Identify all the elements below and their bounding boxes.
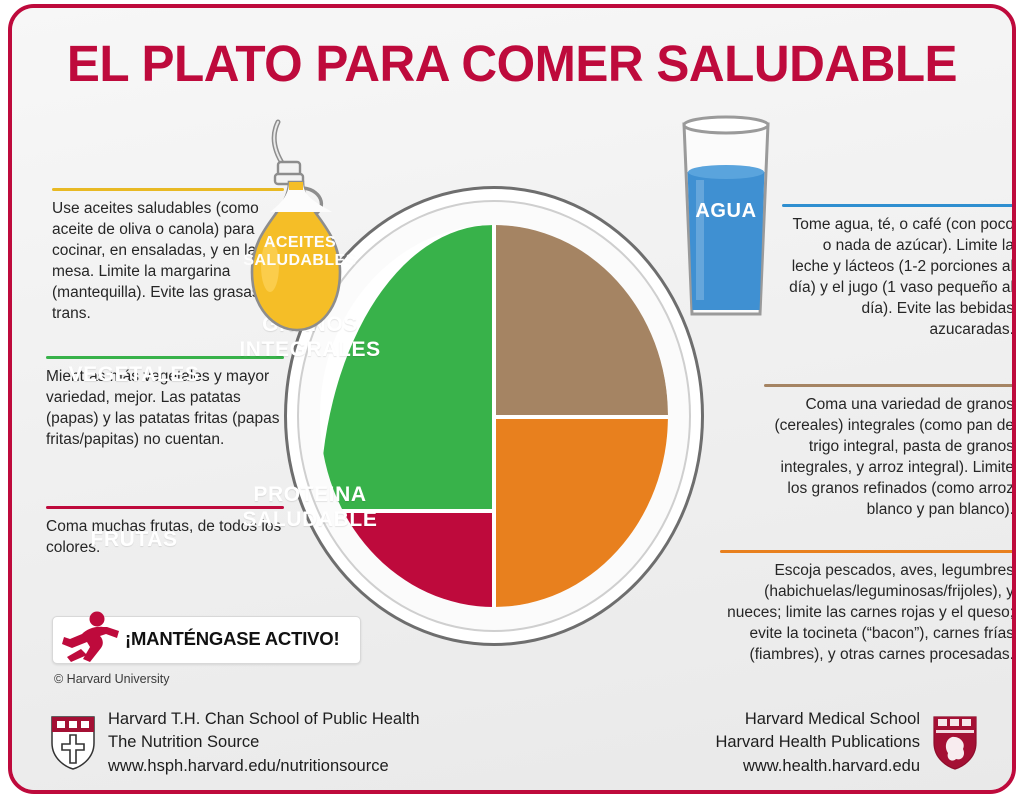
oil-bottle-label-line2: SALUDABLES (240, 252, 360, 270)
callout-whole-grains: Coma una variedad de granos (cereales) i… (764, 384, 1014, 520)
footer-right: Harvard Medical School Harvard Health Pu… (715, 708, 978, 778)
footer-left-line1: Harvard T.H. Chan School of Public Healt… (108, 708, 420, 731)
plate-label-grains-line2: INTEGRALES (224, 338, 396, 363)
connector-line-grains (764, 384, 1014, 387)
plate-label-fruits: FRUTAS (48, 528, 220, 553)
footer-left-line2: The Nutrition Source (108, 731, 420, 754)
footer-left-lines: Harvard T.H. Chan School of Public Healt… (108, 708, 420, 778)
running-person-icon (57, 609, 123, 667)
harvard-medical-shield-icon (932, 715, 978, 771)
water-glass-label: AGUA (672, 200, 780, 223)
callout-protein-text: Escoja pescados, aves, legumbres (habich… (720, 560, 1014, 665)
plate-label-protein-line1: PROTEINA (224, 483, 396, 508)
water-glass-icon: AGUA (672, 114, 780, 326)
callout-water-text: Tome agua, té, o café (con poco o nada d… (782, 214, 1014, 340)
plate-label-vegetables: VEGETALES (48, 363, 220, 388)
footer-right-line1: Harvard Medical School (715, 708, 920, 731)
footer-right-url[interactable]: www.health.harvard.edu (715, 755, 920, 778)
infographic-card: EL PLATO PARA COMER SALUDABLE Use aceite… (8, 4, 1016, 794)
callout-healthy-protein: Escoja pescados, aves, legumbres (habich… (720, 550, 1014, 665)
harvard-chan-shield-icon (50, 715, 96, 771)
callout-grains-text: Coma una variedad de granos (cereales) i… (764, 394, 1014, 520)
oil-bottle-icon: ACEITES SALUDABLES (240, 116, 360, 338)
stay-active-badge: ¡MANTÉNGASE ACTIVO! (52, 616, 361, 664)
callout-water: Tome agua, té, o café (con poco o nada d… (782, 204, 1014, 340)
oil-bottle-label: ACEITES SALUDABLES (240, 234, 360, 270)
footer-right-line2: Harvard Health Publications (715, 731, 920, 754)
plate-food-area (320, 225, 668, 607)
footer-right-lines: Harvard Medical School Harvard Health Pu… (715, 708, 920, 778)
plate-label-protein: PROTEINA SALUDABLE (224, 483, 396, 533)
oil-bottle-label-line1: ACEITES (240, 234, 360, 252)
footer-left-url[interactable]: www.hsph.harvard.edu/nutritionsource (108, 755, 420, 778)
page-title: EL PLATO PARA COMER SALUDABLE (27, 34, 997, 93)
plate-label-protein-line2: SALUDABLE (224, 508, 396, 533)
stay-active-label: ¡MANTÉNGASE ACTIVO! (125, 628, 353, 650)
copyright-text: © Harvard University (54, 672, 170, 686)
footer-left: Harvard T.H. Chan School of Public Healt… (50, 708, 420, 778)
connector-line-protein (720, 550, 1014, 553)
connector-line-water (782, 204, 1014, 207)
